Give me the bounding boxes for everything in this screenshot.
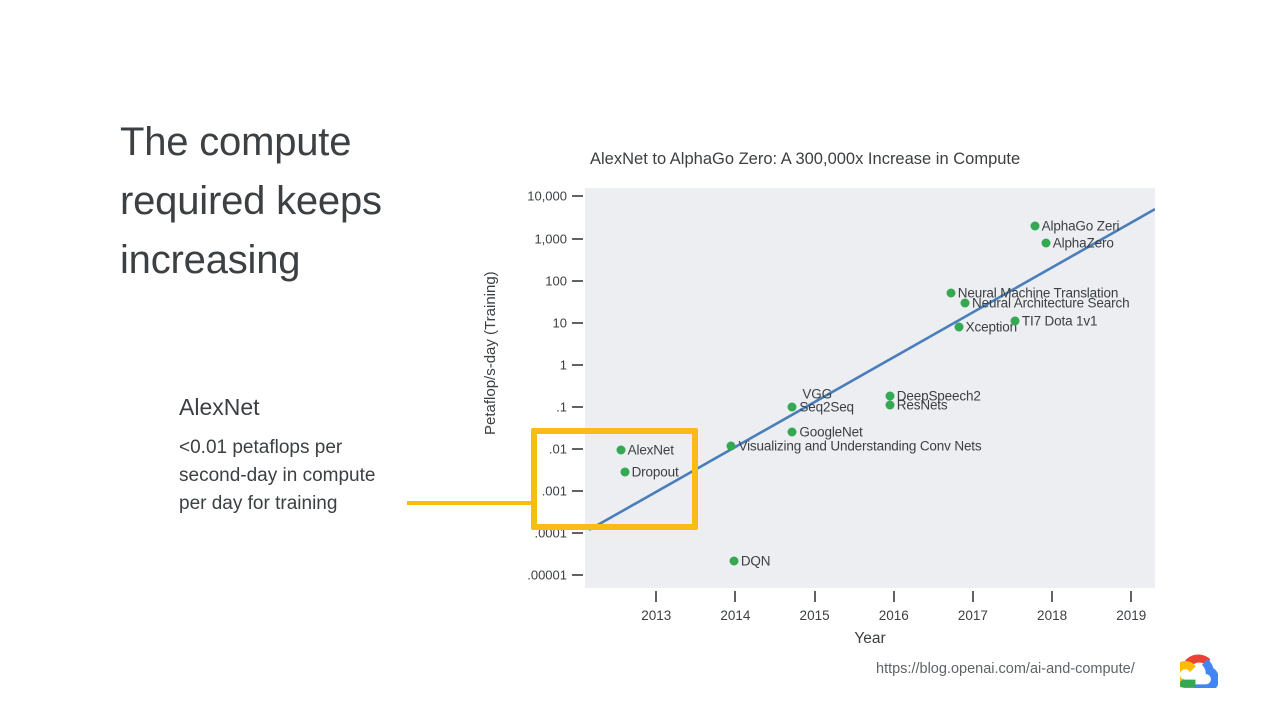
x-tick-label: 2015 — [800, 608, 830, 623]
callout-title: AlexNet — [179, 392, 260, 422]
slide-canvas: The compute required keeps increasing Al… — [0, 0, 1280, 720]
data-point-label: ResNets — [897, 398, 948, 413]
y-tick-label: .1 — [556, 399, 567, 414]
x-axis-title: Year — [854, 630, 885, 648]
x-tick-mark — [814, 591, 816, 602]
data-point-label: AlphaZero — [1053, 235, 1114, 250]
data-point-label: DQN — [741, 553, 771, 568]
y-tick-label: 100 — [545, 273, 567, 288]
compute-trend-chart: AlexNet to AlphaGo Zero: A 300,000x Incr… — [490, 145, 1190, 655]
y-tick-label: .00001 — [527, 568, 567, 583]
alexnet-highlight-box — [531, 428, 698, 530]
data-point[interactable] — [1010, 316, 1019, 325]
data-point-label: Xception — [966, 319, 1017, 334]
y-tick-label: 1,000 — [534, 231, 567, 246]
source-url[interactable]: https://blog.openai.com/ai-and-compute/ — [876, 661, 1135, 677]
y-tick-label: 1 — [560, 357, 567, 372]
x-tick-label: 2018 — [1037, 608, 1067, 623]
x-tick-label: 2014 — [720, 608, 750, 623]
data-point[interactable] — [885, 401, 894, 410]
data-point-label: TI7 Dota 1v1 — [1022, 313, 1098, 328]
x-tick-label: 2019 — [1116, 608, 1146, 623]
y-axis-title: Petaflop/s-day (Training) — [482, 271, 499, 435]
data-point[interactable] — [885, 392, 894, 401]
y-tick-mark — [572, 574, 583, 576]
data-point[interactable] — [1030, 221, 1039, 230]
data-point[interactable] — [961, 298, 970, 307]
y-tick-mark — [572, 322, 583, 324]
y-tick-label: 10 — [553, 315, 567, 330]
data-point-label: AlphaGo Zeri — [1042, 218, 1120, 233]
data-point-label: Visualizing and Understanding Conv Nets — [738, 438, 981, 453]
y-tick-label: 10,000 — [527, 189, 567, 204]
y-tick-mark — [572, 195, 583, 197]
data-point[interactable] — [729, 556, 738, 565]
x-tick-mark — [972, 591, 974, 602]
x-tick-mark — [1051, 591, 1053, 602]
data-point[interactable] — [727, 441, 736, 450]
x-tick-label: 2016 — [879, 608, 909, 623]
data-point[interactable] — [954, 322, 963, 331]
data-point[interactable] — [1041, 238, 1050, 247]
data-point[interactable] — [788, 428, 797, 437]
data-point[interactable] — [946, 289, 955, 298]
y-tick-mark — [572, 238, 583, 240]
x-tick-mark — [1130, 591, 1132, 602]
data-point-label: Neural Architecture Search — [972, 295, 1129, 310]
x-tick-label: 2017 — [958, 608, 988, 623]
x-tick-mark — [893, 591, 895, 602]
data-point[interactable] — [788, 402, 797, 411]
page-title: The compute required keeps increasing — [120, 113, 450, 290]
y-tick-mark — [572, 280, 583, 282]
y-tick-mark — [572, 364, 583, 366]
x-tick-mark — [734, 591, 736, 602]
y-tick-mark — [572, 532, 583, 534]
google-cloud-logo — [1180, 654, 1218, 688]
y-tick-mark — [572, 406, 583, 408]
x-tick-mark — [655, 591, 657, 602]
callout-body: <0.01 petaflops per second-day in comput… — [179, 434, 394, 518]
x-tick-label: 2013 — [641, 608, 671, 623]
chart-title: AlexNet to AlphaGo Zero: A 300,000x Incr… — [590, 150, 1020, 169]
data-point-label: Seq2Seq — [799, 399, 854, 414]
